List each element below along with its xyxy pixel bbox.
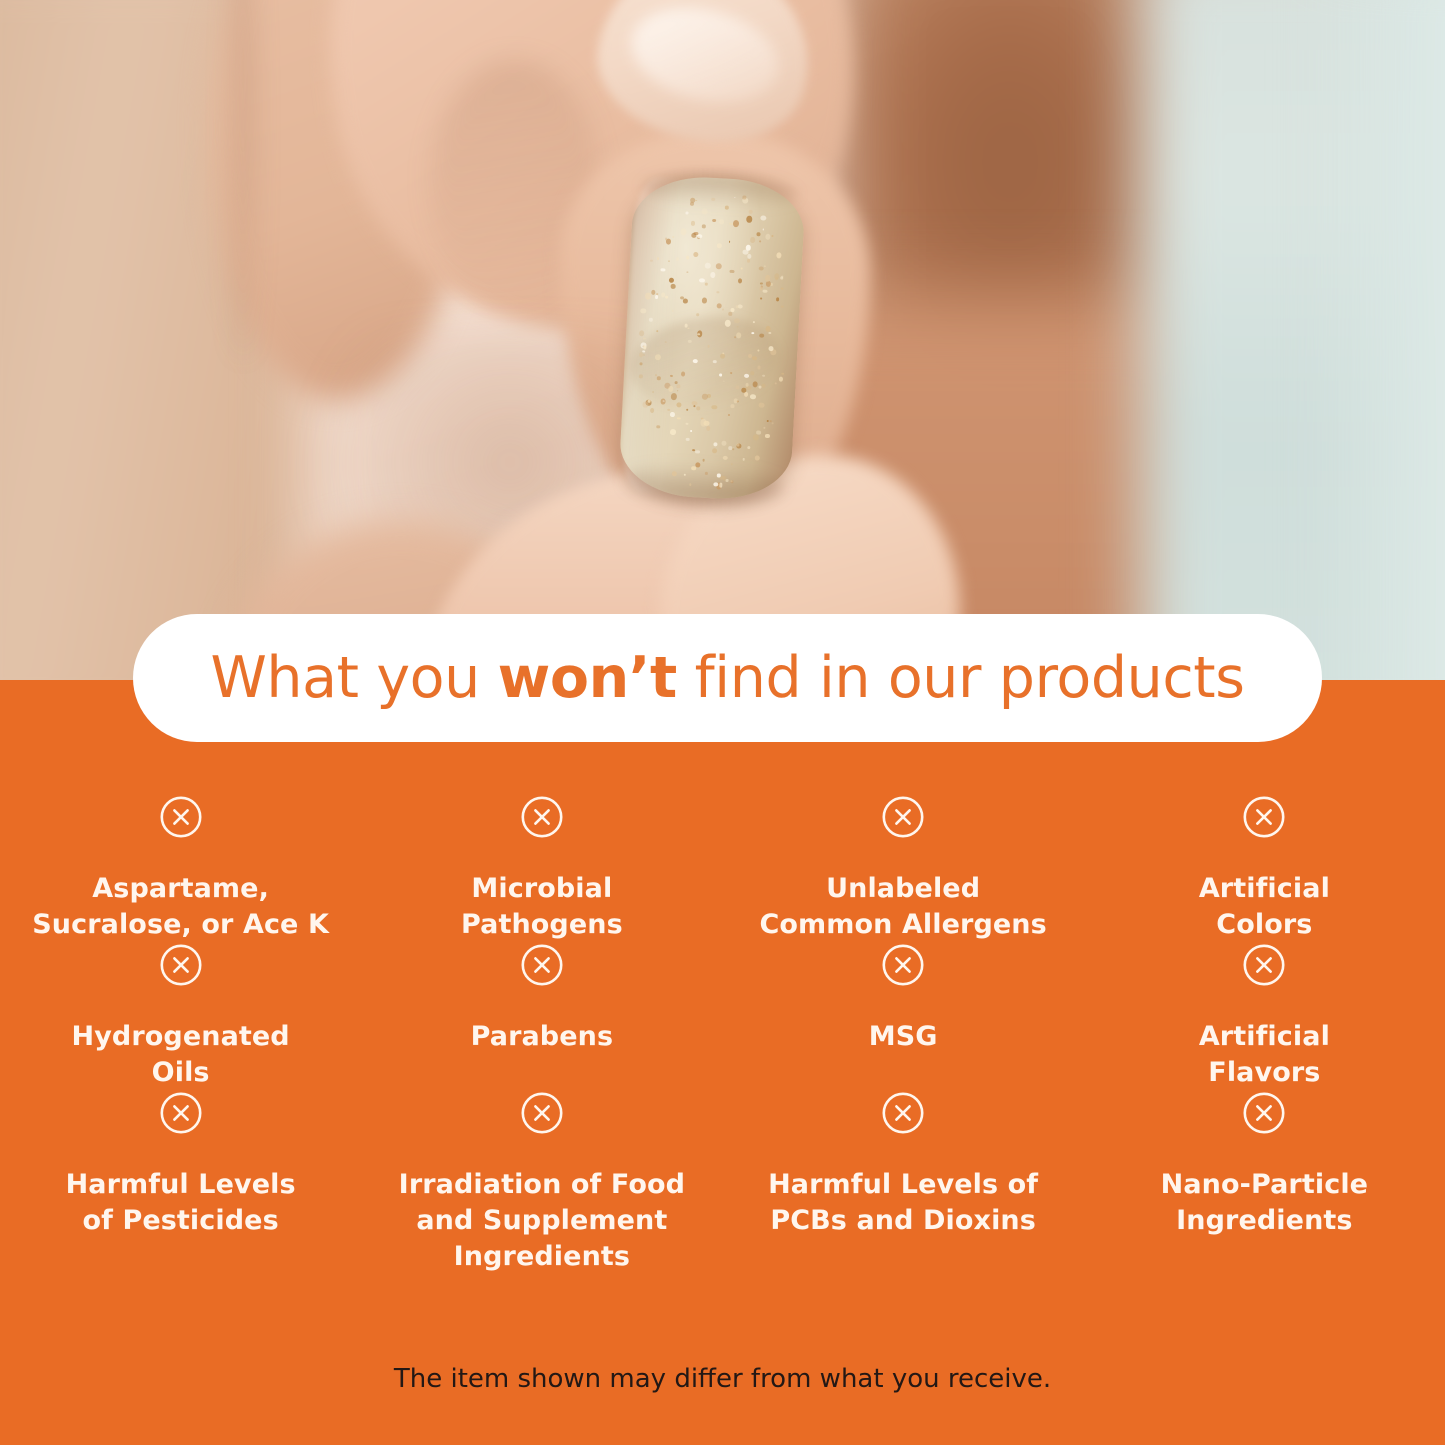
excluded-item-label: MSG: [869, 1019, 938, 1055]
excluded-item-label: Parabens: [471, 1019, 614, 1055]
excluded-item: UnlabeledCommon Allergens: [723, 795, 1084, 943]
excluded-item: MicrobialPathogens: [361, 795, 722, 943]
headline-part-2: find in our products: [677, 645, 1245, 711]
excluded-item: ArtificialColors: [1084, 795, 1445, 943]
circle-x-icon: [159, 943, 203, 987]
headline-pill: What you won’t find in our products: [133, 614, 1322, 742]
page-title: What you won’t find in our products: [210, 650, 1244, 707]
circle-x-icon: [159, 1091, 203, 1135]
circle-x-icon: [1242, 1091, 1286, 1135]
circle-x-icon: [1242, 943, 1286, 987]
excluded-item: MSG: [723, 943, 1084, 1091]
excluded-ingredients-grid: Aspartame,Sucralose, or Ace KMicrobialPa…: [0, 795, 1445, 1275]
headline-emphasis: won’t: [498, 645, 677, 711]
supplement-tablet: [618, 174, 807, 503]
disclaimer-text: The item shown may differ from what you …: [0, 1362, 1445, 1396]
excluded-item: Aspartame,Sucralose, or Ace K: [0, 795, 361, 943]
hero-photo: [0, 0, 1445, 690]
headline-part-1: What you: [210, 645, 497, 711]
excluded-item: Harmful Levels ofPCBs and Dioxins: [723, 1091, 1084, 1275]
excluded-item-label: Aspartame,Sucralose, or Ace K: [32, 871, 329, 943]
circle-x-icon: [1242, 795, 1286, 839]
excluded-item-label: Harmful Levels ofPCBs and Dioxins: [768, 1167, 1038, 1239]
excluded-item: Parabens: [361, 943, 722, 1091]
excluded-item-label: Irradiation of Foodand SupplementIngredi…: [399, 1167, 685, 1275]
excluded-item: Irradiation of Foodand SupplementIngredi…: [361, 1091, 722, 1275]
excluded-item-label: ArtificialColors: [1199, 871, 1330, 943]
circle-x-icon: [520, 1091, 564, 1135]
circle-x-icon: [881, 943, 925, 987]
circle-x-icon: [520, 943, 564, 987]
excluded-item-label: HydrogenatedOils: [72, 1019, 290, 1091]
excluded-item-label: MicrobialPathogens: [461, 871, 623, 943]
excluded-item-label: Nano-ParticleIngredients: [1161, 1167, 1368, 1239]
product-callout-card: What you won’t find in our products Aspa…: [0, 0, 1445, 1445]
circle-x-icon: [881, 1091, 925, 1135]
excluded-item-label: Harmful Levelsof Pesticides: [66, 1167, 296, 1239]
photo-background-right-edge: [1320, 0, 1445, 690]
excluded-item: Harmful Levelsof Pesticides: [0, 1091, 361, 1275]
excluded-item-label: ArtificialFlavors: [1199, 1019, 1330, 1091]
circle-x-icon: [520, 795, 564, 839]
circle-x-icon: [159, 795, 203, 839]
excluded-item: Nano-ParticleIngredients: [1084, 1091, 1445, 1275]
excluded-item: ArtificialFlavors: [1084, 943, 1445, 1091]
excluded-item: HydrogenatedOils: [0, 943, 361, 1091]
circle-x-icon: [881, 795, 925, 839]
excluded-item-label: UnlabeledCommon Allergens: [759, 871, 1046, 943]
